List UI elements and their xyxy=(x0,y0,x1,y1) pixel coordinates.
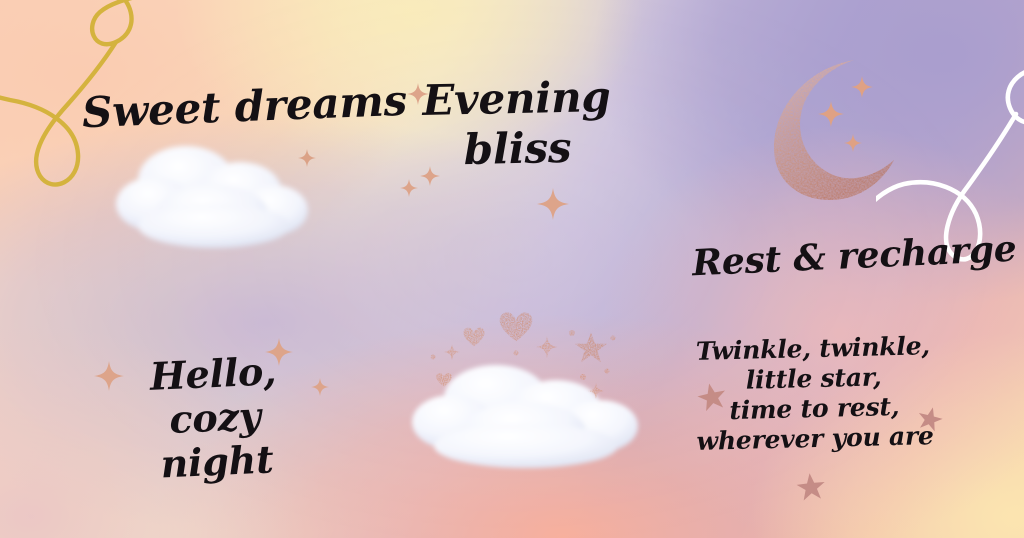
sparkle-four-point xyxy=(444,344,460,360)
quote-twinkle-little-star: Twinkle, twinkle, little star, time to r… xyxy=(693,331,936,457)
poster-canvas: Sweet dreams Evening bliss Rest & rechar… xyxy=(0,0,1024,538)
sparkle-four-point xyxy=(588,383,604,399)
glitter-dot xyxy=(605,369,610,374)
glitter-dot xyxy=(611,336,616,341)
glitter-cluster xyxy=(431,312,616,399)
sparkle-four-point xyxy=(536,336,558,358)
glitter-dot xyxy=(580,374,586,380)
glitter-dot xyxy=(431,355,436,360)
heart-icon xyxy=(436,373,451,387)
sparkle-four-point xyxy=(818,76,873,152)
heart-icon xyxy=(463,328,484,347)
sparkle-four-point xyxy=(298,149,316,167)
heart-icon xyxy=(500,312,533,341)
glitter-dot xyxy=(514,351,519,356)
quote-evening-bliss: Evening bliss xyxy=(411,72,623,175)
star-five-point xyxy=(575,332,607,362)
glitter-dot xyxy=(569,330,575,336)
quote-hello-cozy-night: Hello, cozy night xyxy=(105,347,325,489)
